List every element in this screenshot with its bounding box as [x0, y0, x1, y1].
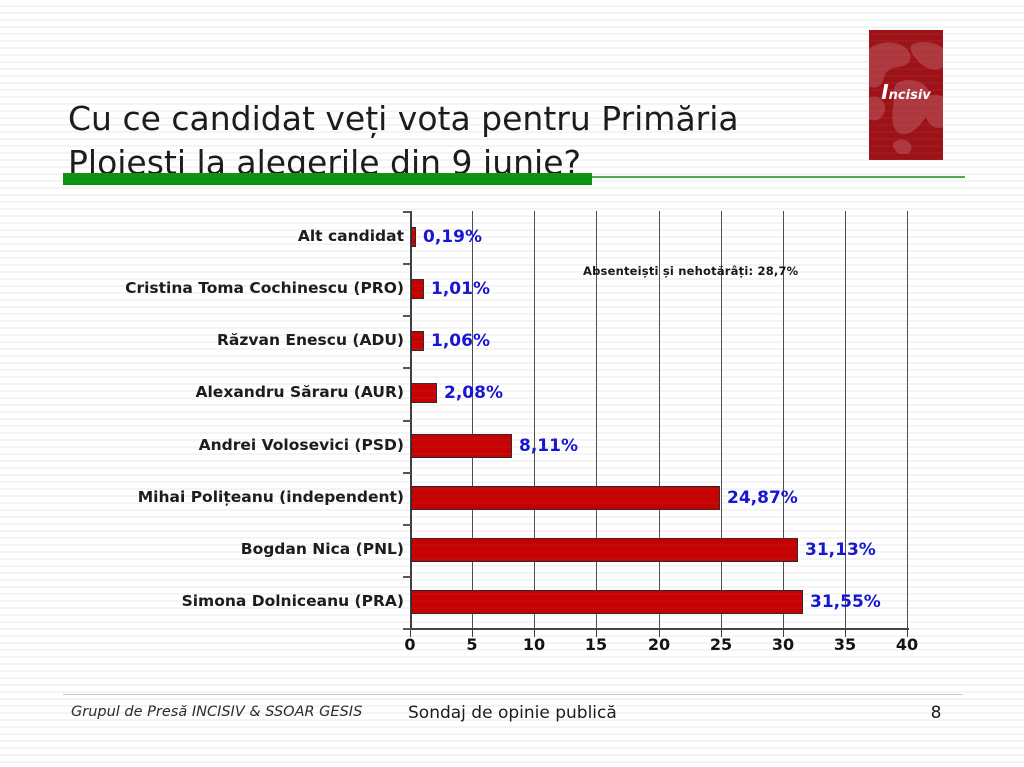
bar: [411, 227, 416, 247]
x-axis-tick-label: 40: [887, 637, 927, 653]
y-axis-tick: [403, 420, 411, 422]
bar: [411, 538, 798, 562]
slide: Cu ce candidat veți vota pentru Primăria…: [0, 0, 1024, 767]
x-axis-tick-label: 35: [825, 637, 865, 653]
bar: [411, 279, 424, 299]
footer-divider: [63, 694, 963, 695]
category-label: Simona Dolniceanu (PRA): [182, 594, 404, 610]
x-axis-tick-label: 25: [701, 637, 741, 653]
y-axis-tick: [403, 472, 411, 474]
bar: [411, 383, 437, 403]
bar-chart: Absenteiști și nehotărâți: 28,7% 0510152…: [0, 0, 1024, 767]
chart-annotation: Absenteiști și nehotărâți: 28,7%: [583, 264, 798, 278]
gridline: [534, 211, 535, 628]
y-axis-tick: [403, 524, 411, 526]
bar-value-label: 0,19%: [423, 229, 482, 246]
y-axis-tick: [403, 367, 411, 369]
x-axis-tick-label: 20: [639, 637, 679, 653]
category-label: Cristina Toma Cochinescu (PRO): [125, 281, 404, 297]
category-label: Andrei Volosevici (PSD): [199, 438, 404, 454]
bar-value-label: 2,08%: [444, 385, 503, 402]
x-axis-tick-label: 5: [452, 637, 492, 653]
category-label: Alexandru Săraru (AUR): [196, 385, 405, 401]
gridline: [845, 211, 846, 628]
category-label: Bogdan Nica (PNL): [241, 542, 404, 558]
y-axis-tick: [403, 315, 411, 317]
y-axis-tick: [403, 211, 411, 213]
y-axis-tick: [403, 263, 411, 265]
slide-number: 8: [924, 703, 948, 723]
y-axis-tick: [403, 576, 411, 578]
bar: [411, 486, 720, 510]
bar: [411, 590, 803, 614]
category-label: Răzvan Enescu (ADU): [217, 333, 404, 349]
bar-value-label: 24,87%: [727, 490, 798, 507]
category-label: Alt candidat: [298, 229, 404, 245]
bar-value-label: 8,11%: [519, 438, 578, 455]
x-axis-tick-label: 30: [763, 637, 803, 653]
gridline: [472, 211, 473, 628]
category-label: Mihai Polițeanu (independent): [138, 490, 404, 506]
x-axis-tick-label: 10: [514, 637, 554, 653]
y-axis-tick: [403, 628, 411, 630]
bar-value-label: 31,55%: [810, 594, 881, 611]
bar: [411, 434, 512, 458]
x-axis-tick-label: 15: [576, 637, 616, 653]
x-axis-tick-label: 0: [390, 637, 430, 653]
footer-subtitle: Sondaj de opinie publică: [408, 703, 617, 723]
bar: [411, 331, 424, 351]
bar-value-label: 1,06%: [431, 333, 490, 350]
gridline: [907, 211, 908, 628]
footer-source: Grupul de Presă INCISIV & SSOAR GESIS: [71, 704, 362, 720]
bar-value-label: 31,13%: [805, 542, 876, 559]
bar-value-label: 1,01%: [431, 281, 490, 298]
